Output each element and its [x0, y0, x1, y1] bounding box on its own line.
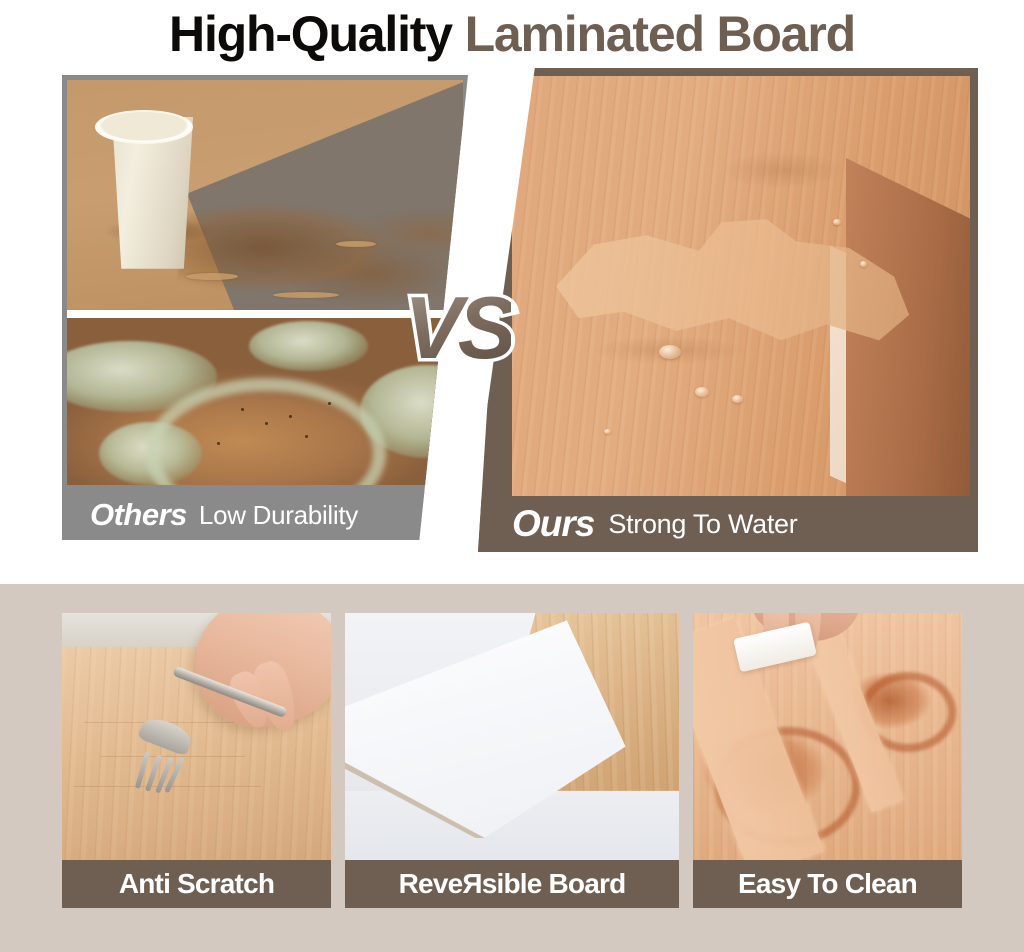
water-droplet — [659, 345, 681, 359]
feature-photo-easy-to-clean — [693, 613, 962, 860]
coffee-tendril — [336, 241, 376, 247]
features-section: Anti Scratch ReveЯsible Board — [0, 584, 1024, 952]
headline-part-quality: High-Quality — [169, 6, 452, 62]
feature-card-anti-scratch[interactable]: Anti Scratch — [62, 613, 331, 908]
vs-badge: VS — [404, 284, 511, 372]
water-droplet — [695, 387, 709, 397]
feature-label-anti-scratch: Anti Scratch — [62, 860, 331, 908]
feature-card-easy-to-clean[interactable]: Easy To Clean — [693, 613, 962, 908]
water-droplet — [833, 219, 841, 225]
ours-photo-water-resistant — [512, 76, 970, 496]
mold-speck — [305, 435, 308, 438]
feature-label-reversible-board: ReveЯsible Board — [345, 860, 679, 908]
feature-photo-reversible-board — [345, 613, 679, 860]
feature-card-reversible-board[interactable]: ReveЯsible Board — [345, 613, 679, 908]
mold-patch — [249, 321, 368, 371]
others-subtitle-label: Low Durability — [199, 500, 358, 531]
cup-rim — [95, 110, 193, 144]
feature-label-easy-to-clean: Easy To Clean — [693, 860, 962, 908]
comparison-section: Others Low Durability Ours Strong To Wat… — [0, 62, 1024, 554]
feature-photo-anti-scratch — [62, 613, 331, 860]
water-droplet — [604, 429, 611, 434]
ours-label-bar: Ours Strong To Water — [478, 496, 978, 552]
ours-emphasis-label: Ours — [512, 503, 594, 545]
others-label-bar: Others Low Durability — [62, 490, 468, 540]
headline-text: High-Quality Laminated Board — [169, 9, 855, 59]
ours-panel: Ours Strong To Water — [478, 68, 978, 552]
coffee-tendril — [273, 292, 339, 298]
others-emphasis-label: Others — [90, 497, 187, 533]
mold-speck — [265, 422, 268, 425]
wood-knot — [723, 152, 843, 188]
ours-subtitle-label: Strong To Water — [608, 509, 797, 540]
others-photo-spilled-coffee — [67, 80, 463, 310]
headline-part-product: Laminated Board — [465, 6, 855, 62]
water-droplet — [860, 261, 867, 267]
features-row: Anti Scratch ReveЯsible Board — [62, 613, 962, 908]
mold-speck — [289, 415, 292, 418]
